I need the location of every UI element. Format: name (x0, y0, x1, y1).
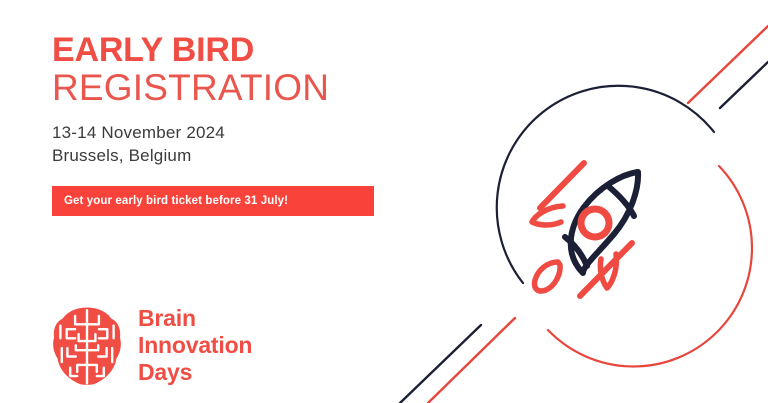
brain-icon (52, 306, 122, 386)
early-bird-registration-banner: EARLY BIRD REGISTRATION 13-14 November 2… (0, 0, 768, 403)
headline-primary: EARLY BIRD (52, 33, 254, 67)
brand-logo-line-2: Innovation (138, 332, 252, 359)
brand-logo-text: Brain Innovation Days (138, 305, 252, 386)
cta-label: Get your early bird ticket before 31 Jul… (52, 195, 288, 207)
event-dates: 13-14 November 2024 (52, 122, 225, 145)
headline-secondary: REGISTRATION (52, 69, 329, 106)
speed-line-navy (720, 62, 768, 108)
rocket-fin-left (532, 206, 563, 225)
event-location: Brussels, Belgium (52, 145, 225, 168)
speed-line-red (428, 318, 515, 403)
rocket-in-circle-illustration (380, 0, 768, 403)
rocket-flame (535, 262, 561, 291)
brand-logo-line-3: Days (138, 359, 252, 386)
rocket-window (581, 209, 609, 237)
speed-line-red (688, 26, 768, 103)
brand-logo[interactable]: Brain Innovation Days (52, 305, 252, 386)
rocket-streak-upper (540, 163, 584, 208)
brand-logo-line-1: Brain (138, 305, 252, 332)
cta-banner-button[interactable]: Get your early bird ticket before 31 Jul… (52, 186, 374, 216)
event-details: 13-14 November 2024 Brussels, Belgium (52, 122, 225, 168)
